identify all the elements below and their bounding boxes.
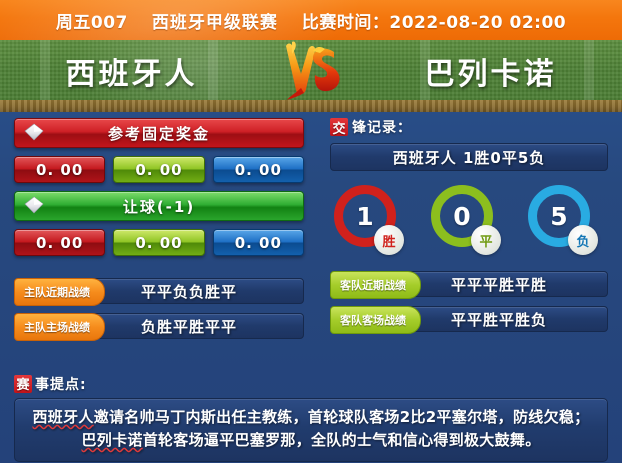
draw-badge: 平 <box>471 225 501 255</box>
diamond-icon <box>23 195 45 217</box>
bonus-odd-away[interactable]: 0. 00 <box>213 156 304 183</box>
home-venue-record-tag: 主队主场战绩 <box>14 313 105 341</box>
tips-line2-rest: 首轮客场逼平巴塞罗那，全队的士气和信心得到极大鼓舞。 <box>143 431 541 449</box>
bonus-odd-home[interactable]: 0. 00 <box>14 156 105 183</box>
tips-away-team-mention: 巴列卡诺 <box>81 431 142 449</box>
teams-row: 西班牙人 巴列卡诺 <box>0 40 622 102</box>
fixed-bonus-title: 参考固定奖金 <box>108 123 210 144</box>
match-preview-screen: 周五007 西班牙甲级联赛 比赛时间：2022-08-20 02:00 西班牙人 <box>0 0 622 463</box>
page-header: 周五007 西班牙甲级联赛 比赛时间：2022-08-20 02:00 <box>0 0 622 40</box>
tips-icon: 赛 <box>14 375 32 393</box>
vs-badge <box>263 40 359 102</box>
handicap-title-bar: 让球(-1) <box>14 191 304 221</box>
win-count: 1 <box>356 204 373 229</box>
handicap-title: 让球(-1) <box>123 196 195 217</box>
away-recent-record-row: 客队近期战绩 平平平胜平胜 <box>330 271 608 297</box>
tips-title-label: 事提点: <box>35 374 87 394</box>
h2h-title-label: 锋记录： <box>352 117 412 137</box>
away-venue-record-tag: 客队客场战绩 <box>330 306 421 334</box>
home-recent-record-row: 主队近期战绩 平平负负胜平 <box>14 278 304 304</box>
lose-count: 5 <box>550 204 567 229</box>
handicap-odds-row: 0. 00 0. 00 0. 00 <box>14 229 304 256</box>
fixed-bonus-title-bar: 参考固定奖金 <box>14 118 304 148</box>
head-to-head-column: 交 锋记录： 西班牙人 1胜0平5负 1 胜 0 平 <box>330 118 608 341</box>
match-time-label: 比赛时间：2022-08-20 02:00 <box>302 8 566 33</box>
match-tips-text: 西班牙人邀请名帅马丁内斯出任主教练，首轮球队客场2比2平塞尔塔，防线欠稳； 巴列… <box>25 406 597 452</box>
lose-badge: 负 <box>568 225 598 255</box>
h2h-lose-circle: 5 负 <box>528 185 604 261</box>
draw-count: 0 <box>453 204 470 229</box>
league-name-label: 西班牙甲级联赛 <box>152 8 278 33</box>
tips-line1-rest: 邀请名帅马丁内斯出任主教练，首轮球队客场2比2平塞尔塔，防线欠稳； <box>94 408 590 426</box>
h2h-circles: 1 胜 0 平 5 负 <box>330 181 608 271</box>
handicap-odd-away[interactable]: 0. 00 <box>213 229 304 256</box>
away-venue-record-row: 客队客场战绩 平平胜平胜负 <box>330 306 608 332</box>
h2h-icon: 交 <box>330 118 348 136</box>
h2h-summary-bar: 西班牙人 1胜0平5负 <box>330 143 608 171</box>
h2h-win-circle: 1 胜 <box>334 185 410 261</box>
home-recent-record-tag: 主队近期战绩 <box>14 278 105 306</box>
bonus-odd-draw[interactable]: 0. 00 <box>113 156 204 183</box>
h2h-title: 交 锋记录： <box>330 118 608 136</box>
vs-flame-icon <box>274 40 348 102</box>
home-team-name: 西班牙人 <box>0 49 263 93</box>
home-venue-record-row: 主队主场战绩 负胜平胜平平 <box>14 313 304 339</box>
content-columns: 参考固定奖金 0. 00 0. 00 0. 00 让球(-1) 0. 00 <box>0 118 622 368</box>
match-tips-title: 赛 事提点: <box>14 374 608 393</box>
h2h-draw-circle: 0 平 <box>431 185 507 261</box>
fixed-bonus-odds-row: 0. 00 0. 00 0. 00 <box>14 156 304 183</box>
diamond-icon <box>23 122 45 144</box>
odds-column: 参考固定奖金 0. 00 0. 00 0. 00 让球(-1) 0. 00 <box>14 118 304 348</box>
match-tips-box: 西班牙人邀请名帅马丁内斯出任主教练，首轮球队客场2比2平塞尔塔，防线欠稳； 巴列… <box>14 398 608 462</box>
win-badge: 胜 <box>374 225 404 255</box>
away-team-name: 巴列卡诺 <box>359 49 622 93</box>
match-round-label: 周五007 <box>56 8 128 33</box>
tips-home-team-mention: 西班牙人 <box>33 408 94 426</box>
match-tips-section: 赛 事提点: 西班牙人邀请名帅马丁内斯出任主教练，首轮球队客场2比2平塞尔塔，防… <box>14 374 608 462</box>
handicap-odd-home[interactable]: 0. 00 <box>14 229 105 256</box>
handicap-odd-draw[interactable]: 0. 00 <box>113 229 204 256</box>
away-recent-record-tag: 客队近期战绩 <box>330 271 421 299</box>
